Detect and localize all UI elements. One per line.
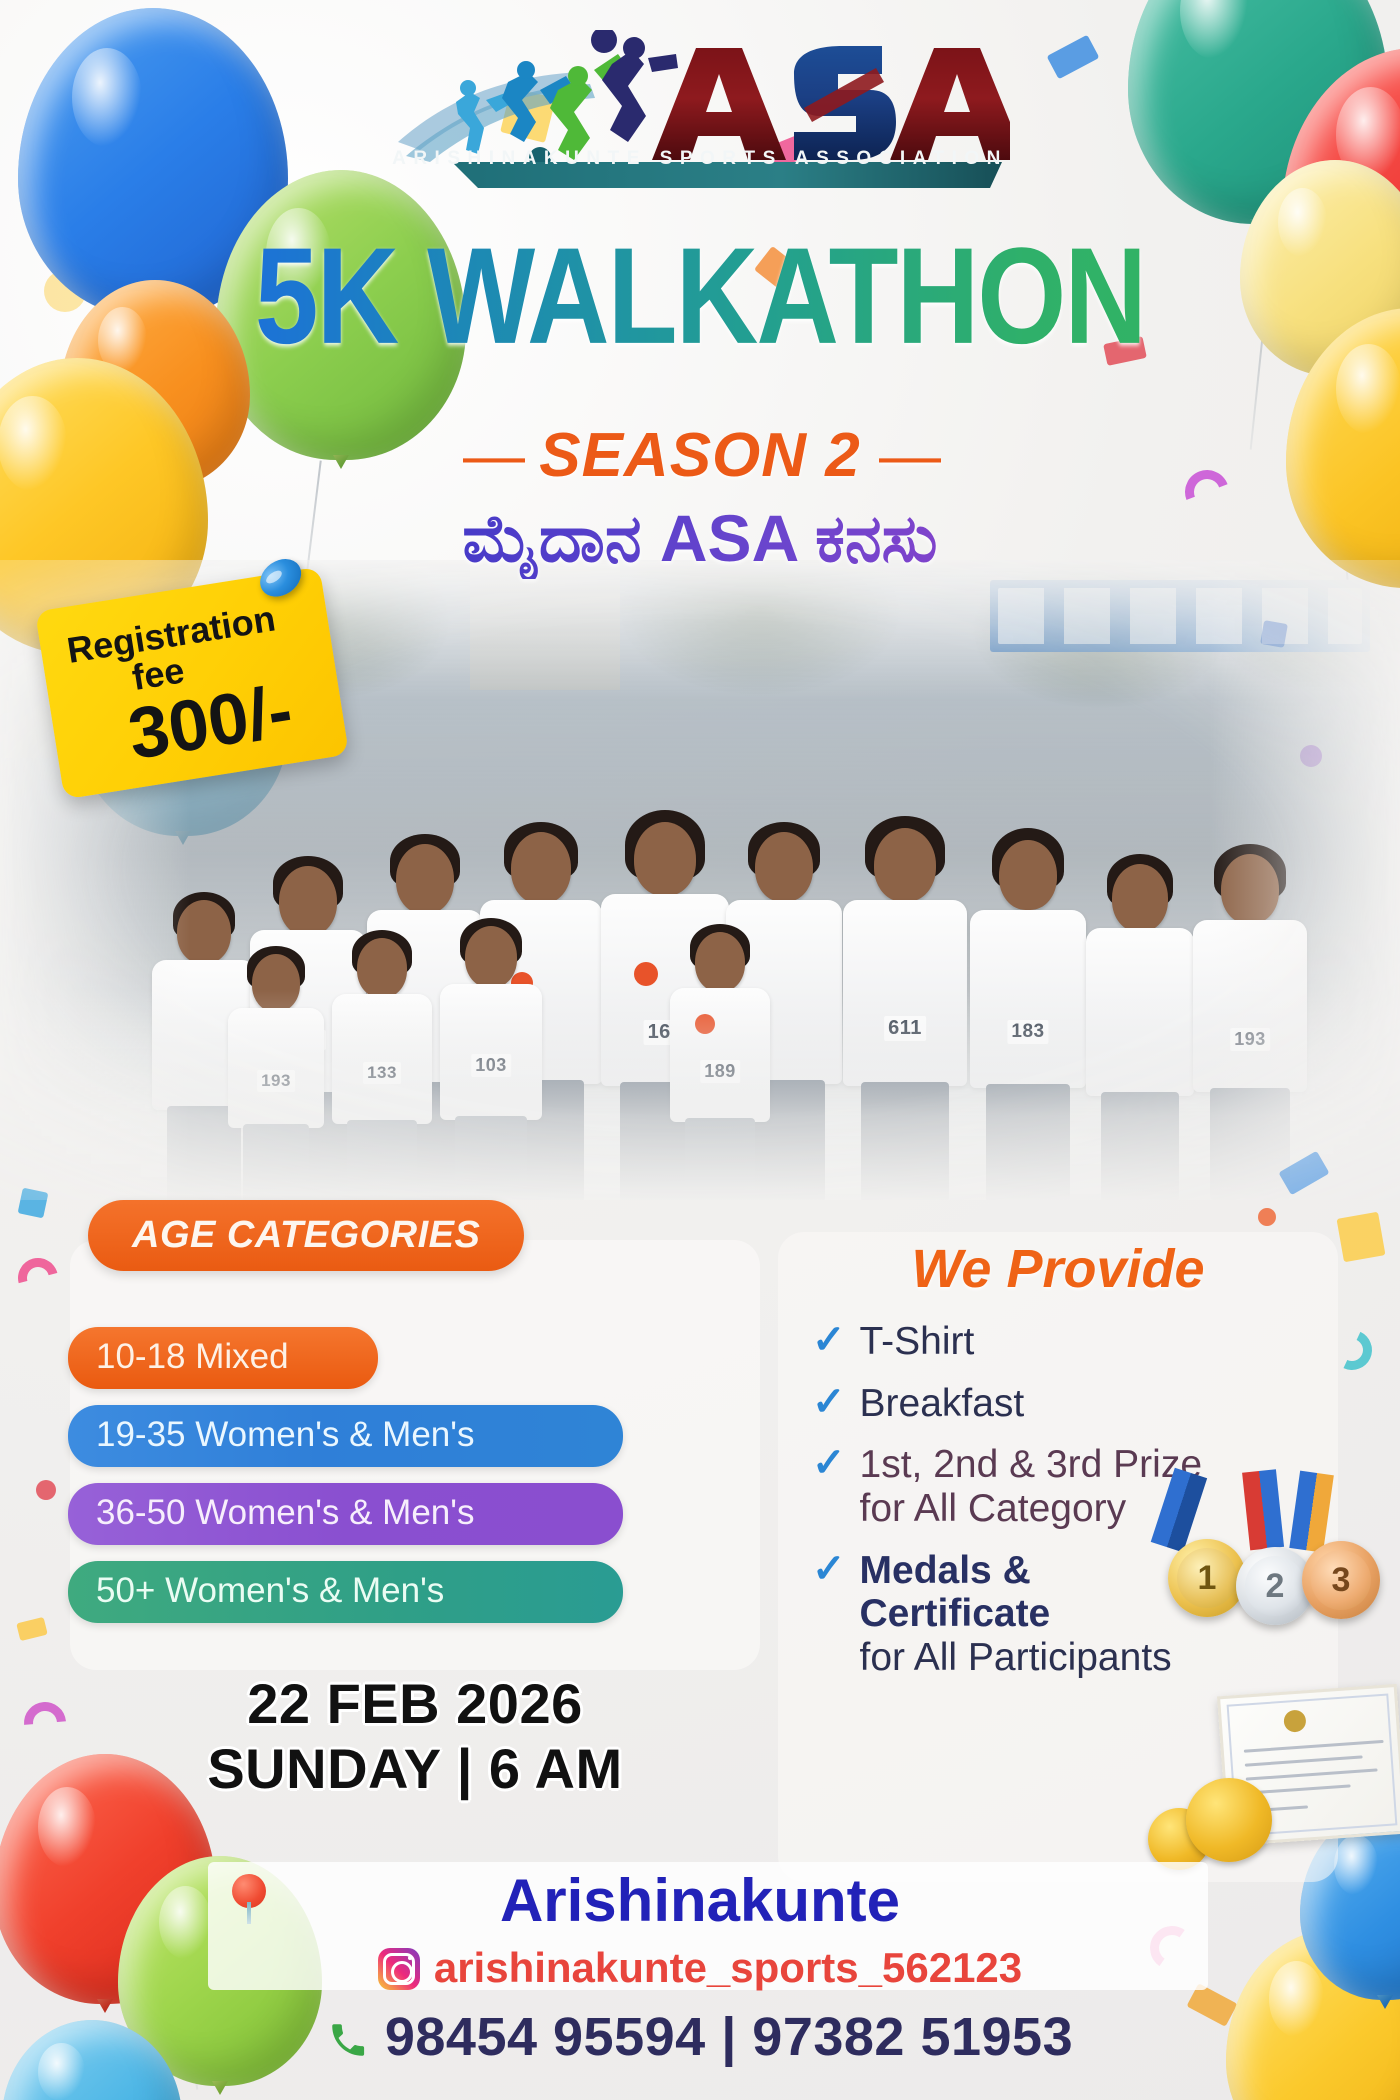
phone-icon <box>327 2012 369 2054</box>
check-icon: ✓ <box>812 1443 846 1483</box>
confetti <box>16 1617 48 1641</box>
age-category-item: 50+ Women's & Men's <box>68 1561 623 1623</box>
phone-row[interactable]: 98454 95594 | 97382 51953 <box>0 2006 1400 2068</box>
check-icon: ✓ <box>812 1549 846 1589</box>
we-provide-item: ✓ T-Shirt <box>812 1320 1352 1364</box>
we-provide-item-sub2: for All Participants <box>860 1636 1172 1680</box>
coin-graphic <box>1186 1778 1272 1862</box>
age-category-item: 10-18 Mixed <box>68 1327 378 1389</box>
confetti <box>1258 1208 1276 1226</box>
phone-icon-svg <box>327 2019 369 2061</box>
instagram-icon[interactable] <box>378 1948 420 1990</box>
we-provide-item-main: Medals & <box>860 1549 1031 1592</box>
age-category-item: 36-50 Women's & Men's <box>68 1483 623 1545</box>
we-provide-item: ✓ Breakfast <box>812 1382 1352 1426</box>
event-datetime: 22 FEB 2026 SUNDAY | 6 AM <box>70 1672 760 1802</box>
confetti <box>36 1480 56 1500</box>
event-date: 22 FEB 2026 <box>70 1672 760 1737</box>
age-categories-heading: AGE CATEGORIES <box>88 1200 524 1271</box>
we-provide-item-sub: for All Category <box>860 1487 1203 1531</box>
confetti <box>15 1693 74 1752</box>
poster-root: 123 164 <box>0 0 1400 2100</box>
we-provide-item-sub: Certificate <box>860 1592 1172 1636</box>
confetti <box>11 1251 66 1306</box>
medals-graphic: 1 2 3 <box>1168 1525 1388 1695</box>
medal-gold: 1 <box>1168 1539 1246 1617</box>
we-provide-item-main: 1st, 2nd & 3rd Prize <box>860 1443 1203 1486</box>
instagram-row[interactable]: arishinakunte_sports_562123 <box>0 1944 1400 1992</box>
logo-tagline: ARISHINAKUNTE SPORTS ASSOCIATION <box>0 148 1400 170</box>
medal-bronze: 3 <box>1302 1541 1380 1619</box>
medal-number: 2 <box>1245 1556 1305 1616</box>
kannada-tagline: ಮೈದಾನ ASA ಕನಸು <box>0 500 1400 579</box>
we-provide-item-label: T-Shirt <box>860 1320 975 1364</box>
confetti <box>1336 1212 1385 1263</box>
we-provide-item-label: 1st, 2nd & 3rd Prize for All Category <box>860 1443 1203 1530</box>
instagram-handle[interactable]: arishinakunte_sports_562123 <box>434 1944 1022 1991</box>
season-text: SEASON 2 <box>539 421 861 490</box>
phone-numbers[interactable]: 98454 95594 | 97382 51953 <box>385 2007 1073 2067</box>
we-provide-heading: We Provide <box>778 1238 1338 1300</box>
we-provide-item-label: Breakfast <box>860 1382 1025 1426</box>
age-categories-list: 10-18 Mixed 19-35 Women's & Men's 36-50 … <box>68 1327 718 1639</box>
asa-logo: ARISHINAKUNTE SPORTS ASSOCIATION <box>0 30 1400 195</box>
medal-number: 1 <box>1177 1548 1237 1608</box>
page-title: 5K WALKATHON <box>21 228 1379 365</box>
event-day-time: SUNDAY | 6 AM <box>70 1737 760 1802</box>
location-name: Arishinakunte <box>0 1866 1400 1935</box>
check-icon: ✓ <box>812 1320 846 1360</box>
season-dash-left: — <box>463 421 521 490</box>
medal-number: 3 <box>1311 1550 1371 1610</box>
season-dash-right: — <box>879 421 937 490</box>
check-icon: ✓ <box>812 1382 846 1422</box>
season-label: — SEASON 2 — <box>0 420 1400 491</box>
we-provide-item-label: Medals & Certificate for All Participant… <box>860 1549 1172 1680</box>
age-category-item: 19-35 Women's & Men's <box>68 1405 623 1467</box>
